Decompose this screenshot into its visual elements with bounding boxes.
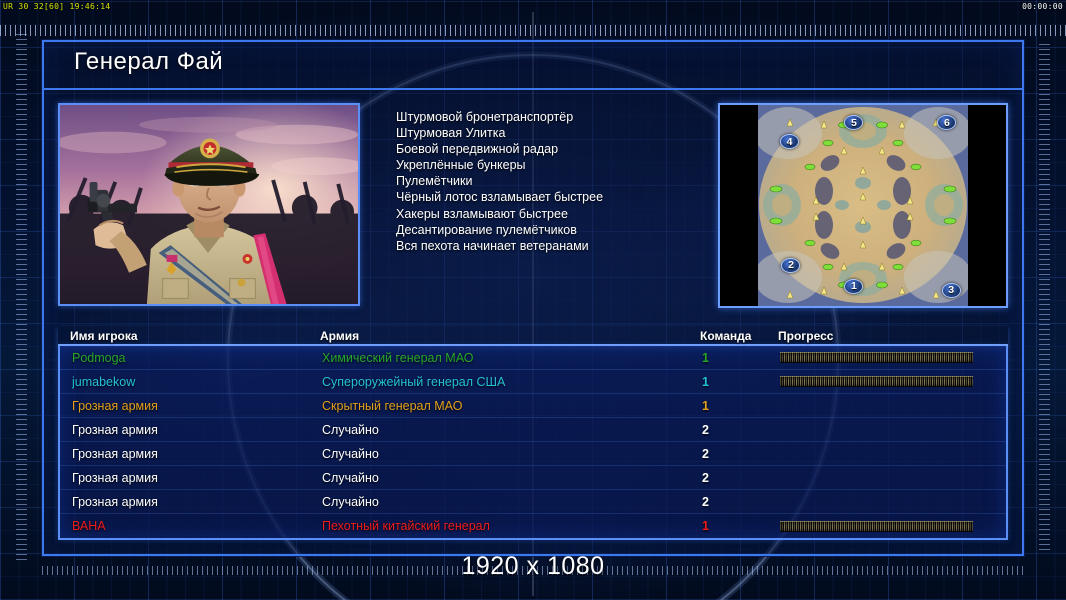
player-name: Грозная армия — [72, 423, 322, 437]
ruler-strip-top — [0, 25, 1066, 36]
table-row[interactable]: PodmogaХимический генерал МАО1 — [60, 346, 1006, 370]
player-team: 1 — [702, 351, 780, 365]
table-row[interactable]: Грозная армияСлучайно2 — [60, 466, 1006, 490]
column-header-name: Имя игрока — [70, 329, 320, 343]
panel-header: Генерал Фай — [44, 42, 1022, 90]
column-header-progress: Прогресс — [778, 329, 1008, 343]
game-screen: UR 30 32[60] 19:46:14 00:00:00 Генерал Ф… — [0, 0, 1066, 600]
player-army: Химический генерал МАО — [322, 351, 702, 365]
player-progress-cell — [780, 370, 1006, 394]
player-progress-cell — [780, 442, 1006, 466]
general-info-panel: Генерал Фай — [42, 40, 1024, 556]
player-army: Случайно — [322, 495, 702, 509]
resolution-overlay: 1920 x 1080 — [0, 552, 1066, 581]
player-progress-cell — [780, 394, 1006, 418]
player-name: Грозная армия — [72, 495, 322, 509]
players-table: Имя игрока Армия Команда Прогресс Podmog… — [44, 318, 1022, 540]
player-progress-cell — [780, 490, 1006, 514]
start-position-label: 4 — [787, 136, 793, 148]
column-header-army: Армия — [320, 329, 700, 343]
table-row[interactable]: Грозная армияСлучайно2 — [60, 418, 1006, 442]
table-row[interactable]: ВАНАПехотный китайский генерал1 — [60, 514, 1006, 538]
general-portrait — [58, 103, 360, 306]
player-team: 1 — [702, 399, 780, 413]
progress-bar — [780, 521, 973, 532]
ability-item: Вся пехота начинает ветеранами — [396, 238, 718, 254]
player-army: Пехотный китайский генерал — [322, 519, 702, 533]
column-header-team: Команда — [700, 329, 778, 343]
ability-item: Хакеры взламывают быстрее — [396, 206, 718, 222]
table-body: PodmogaХимический генерал МАО1jumabekowС… — [58, 346, 1008, 540]
player-name: Грозная армия — [72, 447, 322, 461]
player-army: Случайно — [322, 423, 702, 437]
player-team: 2 — [702, 447, 780, 461]
ability-item: Штурмовой бронетранспортёр — [396, 109, 718, 125]
portrait-image — [60, 105, 358, 305]
connection-status-text: UR 30 32[60] 19:46:14 — [3, 2, 110, 11]
player-name: jumabekow — [72, 375, 322, 389]
player-name: Грозная армия — [72, 399, 322, 413]
table-row[interactable]: Грозная армияСкрытный генерал МАО1 — [60, 394, 1006, 418]
player-progress-cell — [780, 346, 1006, 370]
top-status-bar: UR 30 32[60] 19:46:14 00:00:00 — [0, 0, 1066, 12]
minimap-letterbox-left — [720, 105, 758, 306]
player-progress-cell — [780, 466, 1006, 490]
player-team: 2 — [702, 495, 780, 509]
ability-item: Штурмовая Улитка — [396, 125, 718, 141]
player-progress-cell — [780, 514, 1006, 538]
player-progress-cell — [780, 418, 1006, 442]
player-army: Скрытный генерал МАО — [322, 399, 702, 413]
general-abilities-list: Штурмовой бронетранспортёр Штурмовая Ули… — [360, 103, 718, 318]
start-position-label: 3 — [948, 284, 954, 296]
player-name: Грозная армия — [72, 471, 322, 485]
table-row[interactable]: Грозная армияСлучайно2 — [60, 442, 1006, 466]
minimap[interactable]: 1 2 3 4 5 6 7 8 — [718, 103, 1008, 308]
progress-bar — [780, 376, 973, 387]
player-army: Случайно — [322, 471, 702, 485]
minimap-letterbox-right — [968, 105, 1006, 306]
start-position-label: 2 — [788, 259, 794, 271]
panel-top-content: Штурмовой бронетранспортёр Штурмовая Ули… — [44, 90, 1022, 318]
game-timer: 00:00:00 — [1022, 2, 1063, 11]
player-team: 2 — [702, 423, 780, 437]
player-name: Podmoga — [72, 351, 322, 365]
start-position-label: 5 — [851, 117, 857, 129]
player-name: ВАНА — [72, 519, 322, 533]
table-header-row: Имя игрока Армия Команда Прогресс — [58, 326, 1008, 346]
ability-item: Пулемётчики — [396, 173, 718, 189]
minimap-start-position-3[interactable]: 3 — [942, 283, 961, 298]
player-team: 2 — [702, 471, 780, 485]
ability-item: Чёрный лотос взламывает быстрее — [396, 189, 718, 205]
player-team: 1 — [702, 375, 780, 389]
player-army: Случайно — [322, 447, 702, 461]
ability-item: Укреплённые бункеры — [396, 157, 718, 173]
start-position-label: 1 — [851, 280, 857, 292]
start-position-label: 6 — [944, 117, 950, 129]
player-army: Супероружейный генерал США — [322, 375, 702, 389]
ability-item: Десантирование пулемётчиков — [396, 222, 718, 238]
ability-item: Боевой передвижной радар — [396, 141, 718, 157]
ruler-strip-right — [1039, 40, 1050, 550]
ruler-strip-left — [16, 30, 27, 560]
progress-bar — [780, 352, 973, 363]
table-row[interactable]: jumabekowСупероружейный генерал США1 — [60, 370, 1006, 394]
player-team: 1 — [702, 519, 780, 533]
page-title: Генерал Фай — [74, 48, 223, 76]
table-row[interactable]: Грозная армияСлучайно2 — [60, 490, 1006, 514]
